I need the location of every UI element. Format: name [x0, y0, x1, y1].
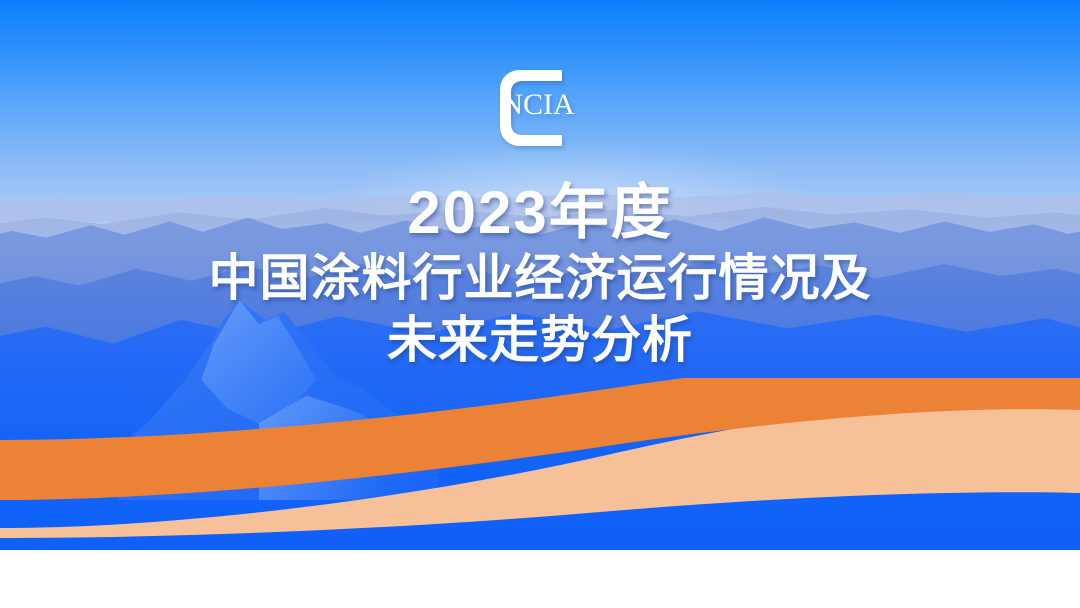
ncia-logo: NCIA	[488, 56, 592, 160]
title-year: 2023年度	[0, 182, 1080, 244]
title-main-line: 中国涂料行业经济运行情况及	[0, 252, 1080, 304]
title-block: 2023年度 中国涂料行业经济运行情况及 未来走势分析	[0, 182, 1080, 366]
poster-cover: NCIA 2023年度 中国涂料行业经济运行情况及 未来走势分析	[0, 0, 1080, 608]
logo-wordmark: NCIA	[501, 88, 575, 121]
title-sub-line: 未来走势分析	[0, 314, 1080, 366]
